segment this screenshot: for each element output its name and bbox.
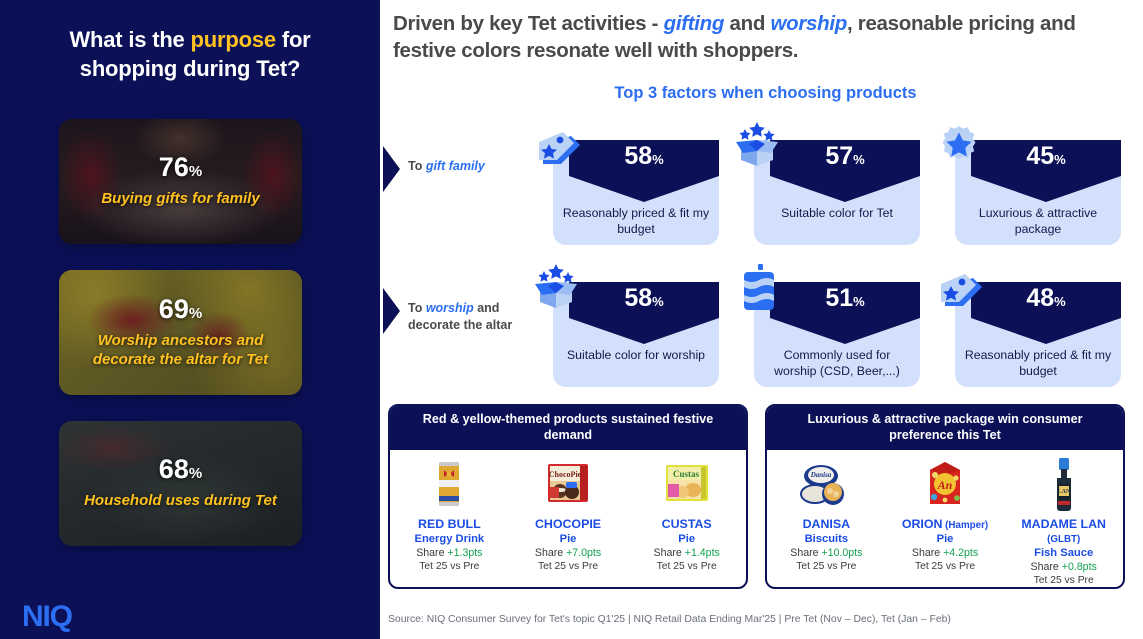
star-badge-icon bbox=[933, 120, 995, 178]
product-panel: Luxurious & attractive package win consu… bbox=[765, 404, 1125, 589]
purpose-card[interactable]: 76% Buying gifts for family bbox=[59, 119, 302, 244]
factor-card-text: Suitable color for Tet bbox=[762, 206, 912, 222]
purpose-card-content: 69% Worship ancestors and decorate the a… bbox=[59, 270, 302, 395]
source-note: Source: NIQ Consumer Survey for Tet's to… bbox=[388, 614, 1128, 625]
purpose-card-value: 76% bbox=[159, 154, 202, 181]
product-item[interactable]: An ORION (Hamper) Pie Share +4.2pts Tet … bbox=[886, 450, 1005, 589]
headline-em-gifting: gifting bbox=[664, 12, 725, 35]
svg-text:LAN: LAN bbox=[1057, 489, 1070, 495]
purpose-card-value: 69% bbox=[159, 296, 202, 323]
factor-card[interactable]: 57% Suitable color for Tet bbox=[754, 126, 920, 245]
product-share: Share +1.3pts bbox=[416, 546, 482, 560]
factor-card-text: Suitable color for worship bbox=[561, 348, 711, 364]
row-label: To gift family bbox=[408, 158, 543, 175]
red-bull-can bbox=[418, 454, 480, 516]
row-arrow-icon bbox=[383, 288, 400, 334]
product-brand: RED BULL bbox=[418, 518, 481, 532]
product-share: Share +0.8pts bbox=[1031, 560, 1097, 574]
factor-card-text: Commonly used for worship (CSD, Beer,...… bbox=[762, 348, 912, 379]
page-title-highlight: purpose bbox=[191, 27, 276, 52]
product-period: Tet 25 vs Pre bbox=[657, 560, 717, 573]
factor-card[interactable]: 45% Luxurious & attractive package bbox=[955, 126, 1121, 245]
product-period: Tet 25 vs Pre bbox=[1034, 574, 1094, 587]
product-category: Pie bbox=[937, 532, 954, 546]
product-period: Tet 25 vs Pre bbox=[419, 560, 479, 573]
headline: Driven by key Tet activities - gifting a… bbox=[393, 10, 1138, 64]
product-brand: DANISA bbox=[803, 518, 851, 532]
product-category: Energy Drink bbox=[415, 532, 485, 546]
svg-text:Custas: Custas bbox=[673, 469, 700, 479]
purpose-card-value: 68% bbox=[159, 456, 202, 483]
danisa-tin: Danisa bbox=[795, 454, 857, 516]
row-label: To worship and decorate the altar bbox=[408, 300, 543, 334]
product-category: Pie bbox=[560, 532, 577, 546]
page-title: What is the purpose for shopping during … bbox=[22, 26, 358, 83]
chocopie-box: ChocoPie bbox=[537, 454, 599, 516]
factor-card[interactable]: 58% Reasonably priced & fit my budget bbox=[553, 126, 719, 245]
page-title-part1: What is the bbox=[69, 27, 190, 52]
factor-card-text: Reasonably priced & fit my budget bbox=[963, 348, 1113, 379]
left-panel: What is the purpose for shopping during … bbox=[0, 0, 380, 639]
product-category: Fish Sauce bbox=[1034, 546, 1093, 560]
row-label-prefix: To bbox=[408, 301, 426, 315]
product-brand: ORION (Hamper) bbox=[902, 518, 988, 532]
factor-card-text: Luxurious & attractive package bbox=[963, 206, 1113, 237]
product-brand: CUSTAS bbox=[662, 518, 712, 532]
factor-card[interactable]: 58% Suitable color for worship bbox=[553, 268, 719, 387]
product-share: Share +7.0pts bbox=[535, 546, 601, 560]
row-arrow-icon bbox=[383, 146, 400, 192]
niq-logo: NIQ bbox=[22, 600, 72, 634]
product-category: Biscuits bbox=[805, 532, 849, 546]
product-panel-items: Danisa DANISA Biscuits Share +10.0pts Te… bbox=[767, 450, 1123, 589]
subheading: Top 3 factors when choosing products bbox=[393, 84, 1138, 103]
product-item[interactable]: RED BULL Energy Drink Share +1.3pts Tet … bbox=[390, 450, 509, 589]
headline-em-worship: worship bbox=[770, 12, 847, 35]
product-category: Pie bbox=[678, 532, 695, 546]
row-label-prefix: To bbox=[408, 159, 426, 173]
svg-text:An: An bbox=[937, 478, 953, 492]
bottle-icon bbox=[732, 262, 794, 320]
product-period: Tet 25 vs Pre bbox=[538, 560, 598, 573]
product-item[interactable]: LAN MADAME LAN (GLBT) Fish Sauce Share +… bbox=[1004, 450, 1123, 589]
purpose-card-label: Worship ancestors and decorate the altar… bbox=[69, 332, 292, 369]
custas-box: Custas bbox=[656, 454, 718, 516]
factor-row-gift: To gift family 58% Reasonably priced & f… bbox=[380, 110, 1143, 245]
factor-card[interactable]: 51% Commonly used for worship (CSD, Beer… bbox=[754, 268, 920, 387]
product-item[interactable]: Custas CUSTAS Pie Share +1.4pts Tet 25 v… bbox=[627, 450, 746, 589]
main-content: Driven by key Tet activities - gifting a… bbox=[380, 0, 1143, 639]
madame-lan-bottle: LAN bbox=[1033, 454, 1095, 516]
product-period: Tet 25 vs Pre bbox=[796, 560, 856, 573]
factor-row-worship: To worship and decorate the altar 58% Su… bbox=[380, 252, 1143, 387]
headline-s1: Driven by key Tet activities - bbox=[393, 12, 664, 35]
purpose-card[interactable]: 68% Household uses during Tet bbox=[59, 421, 302, 546]
orion-hamper-box: An bbox=[914, 454, 976, 516]
row-label-em: worship bbox=[426, 301, 474, 315]
svg-text:ChocoPie: ChocoPie bbox=[549, 470, 582, 479]
factor-card-text: Reasonably priced & fit my budget bbox=[561, 206, 711, 237]
purpose-card-content: 76% Buying gifts for family bbox=[59, 119, 302, 244]
headline-s2: and bbox=[724, 12, 770, 35]
purpose-card-label: Buying gifts for family bbox=[101, 190, 259, 208]
product-panel-heading: Luxurious & attractive package win consu… bbox=[767, 406, 1123, 450]
purpose-card-content: 68% Household uses during Tet bbox=[59, 421, 302, 546]
row-label-em: gift family bbox=[426, 159, 485, 173]
purpose-card[interactable]: 69% Worship ancestors and decorate the a… bbox=[59, 270, 302, 395]
product-period: Tet 25 vs Pre bbox=[915, 560, 975, 573]
product-share: Share +4.2pts bbox=[912, 546, 978, 560]
product-share: Share +1.4pts bbox=[654, 546, 720, 560]
gift-box-stars-icon bbox=[732, 120, 794, 178]
product-panel: Red & yellow-themed products sustained f… bbox=[388, 404, 748, 589]
price-tag-star-icon bbox=[933, 262, 995, 320]
factor-card[interactable]: 48% Reasonably priced & fit my budget bbox=[955, 268, 1121, 387]
product-brand: CHOCOPIE bbox=[535, 518, 601, 532]
product-brand: MADAME LAN (GLBT) bbox=[1004, 518, 1123, 546]
svg-text:Danisa: Danisa bbox=[810, 471, 832, 479]
product-item[interactable]: Danisa DANISA Biscuits Share +10.0pts Te… bbox=[767, 450, 886, 589]
product-item[interactable]: ChocoPie CHOCOPIE Pie Share +7.0pts Tet … bbox=[509, 450, 628, 589]
product-panel-items: RED BULL Energy Drink Share +1.3pts Tet … bbox=[390, 450, 746, 589]
price-tag-star-icon bbox=[531, 120, 593, 178]
product-share: Share +10.0pts bbox=[790, 546, 862, 560]
purpose-card-label: Household uses during Tet bbox=[84, 492, 277, 510]
product-panel-heading: Red & yellow-themed products sustained f… bbox=[390, 406, 746, 450]
gift-box-stars-icon bbox=[531, 262, 593, 320]
